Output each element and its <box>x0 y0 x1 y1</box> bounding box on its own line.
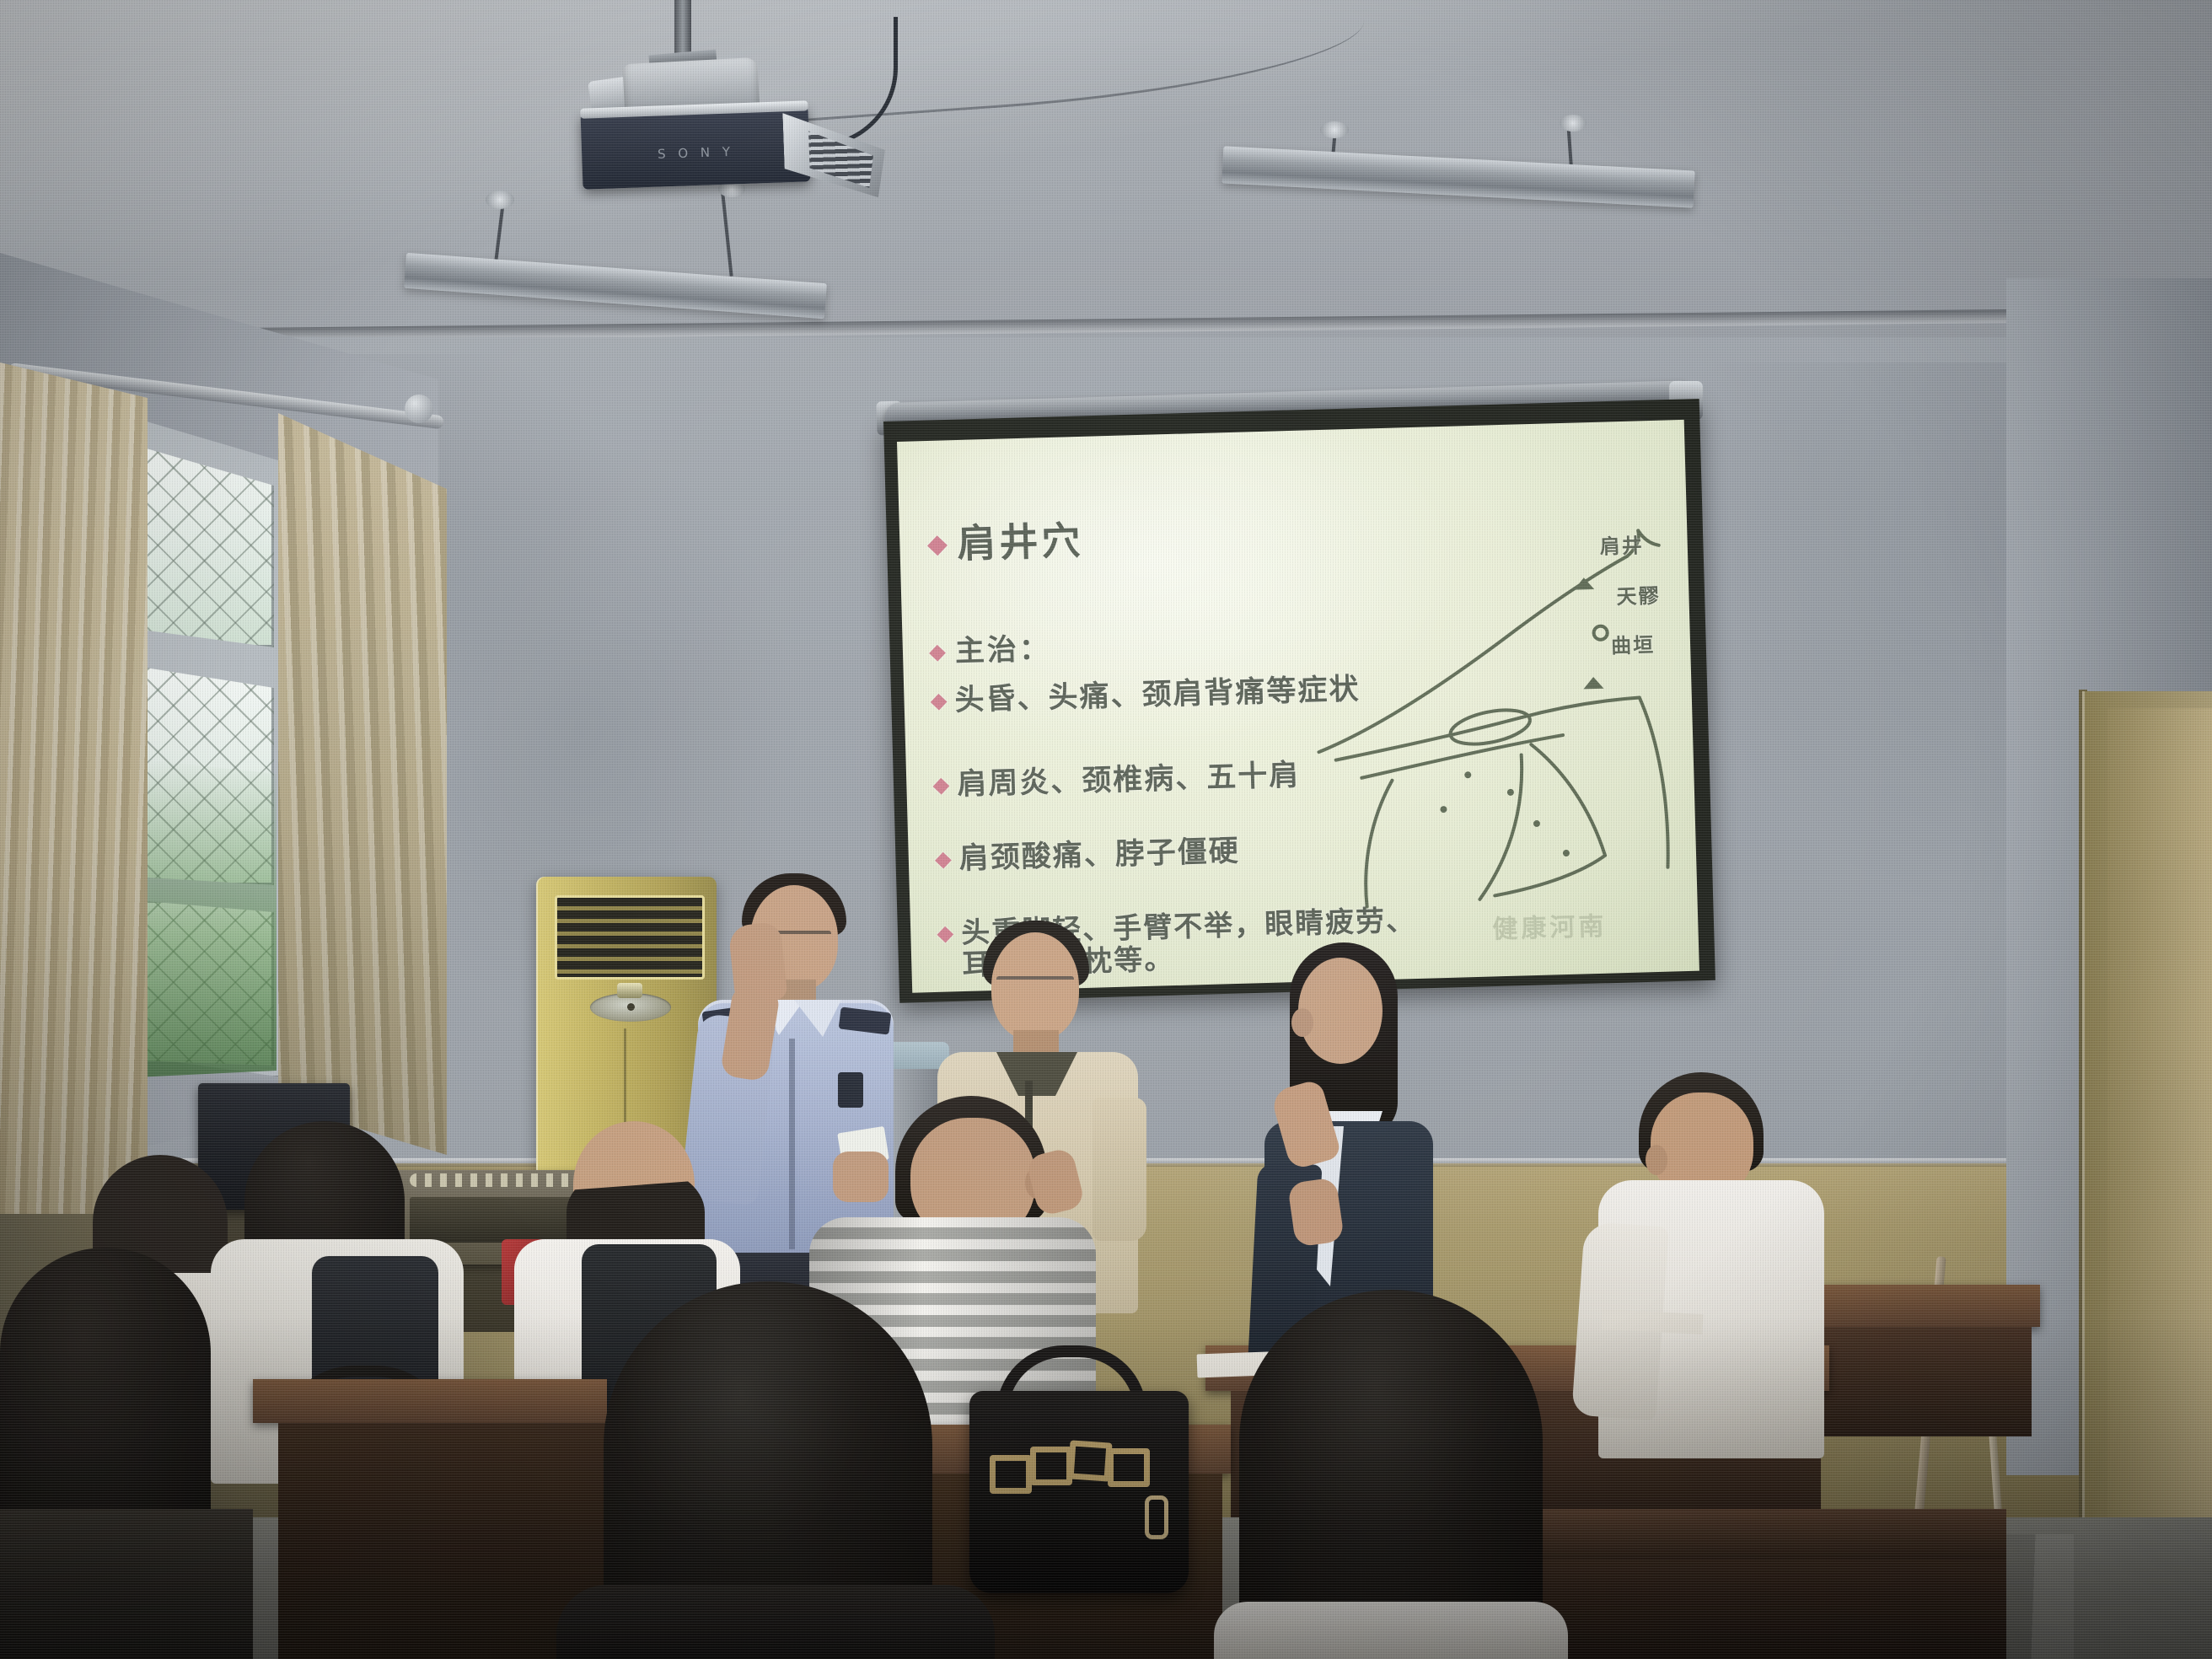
acupoint-label-quyuan: 曲垣 <box>1611 628 1656 658</box>
polo-man-glasses <box>996 976 1074 993</box>
air-conditioner-led-icon <box>627 1003 635 1011</box>
bench-desk <box>253 1379 607 1423</box>
amplifier-knobs[interactable] <box>410 1173 578 1187</box>
presenter-badge <box>838 1072 863 1108</box>
foreground-right-hair <box>1239 1290 1543 1644</box>
handbag-zip-pull-icon <box>1145 1495 1168 1539</box>
projection-screen-surface: 肩井穴 主治： 头昏、头痛、颈肩背痛等症状 肩周炎、颈椎病、五十肩 肩颈酸痛、脖… <box>897 420 1699 993</box>
acupoint-label-jianjing: 肩井 <box>1599 529 1644 559</box>
lamp-ceiling-hook <box>1320 121 1349 138</box>
amplifier-face-panel <box>410 1197 578 1243</box>
curtain-left <box>0 362 148 1214</box>
curtain-right <box>278 413 447 1155</box>
lamp-ceiling-hook <box>486 191 514 209</box>
left-edge-torso <box>0 1509 253 1659</box>
slide-subheading: 主治： <box>954 633 1051 668</box>
window-foliage <box>135 759 276 1079</box>
bullet-diamond-icon <box>927 535 948 556</box>
bullet-diamond-icon <box>933 778 950 795</box>
curtain-rod-finial <box>405 395 433 423</box>
polo-man-sleeve <box>1093 1098 1146 1241</box>
slide-watermark: 健康河南 <box>1492 913 1608 944</box>
wooden-door[interactable] <box>2107 708 2212 1526</box>
bullet-diamond-icon <box>931 694 948 711</box>
air-conditioner-louvers <box>555 895 705 980</box>
navy-woman-hand <box>1287 1177 1345 1247</box>
handbag-buckle-icon <box>1108 1448 1150 1487</box>
left-edge-hair <box>0 1248 211 1543</box>
photo-scene: S O N Y 肩井穴 主治： 头昏、头痛、颈肩背痛等症状 肩周炎、颈椎病、五十… <box>0 0 2212 1659</box>
slide-bullet-3: 肩颈酸痛、脖子僵硬 <box>958 835 1240 876</box>
navy-woman-head <box>1298 958 1382 1064</box>
bullet-diamond-icon <box>929 645 946 662</box>
acupoint-label-tianliao: 天髎 <box>1616 579 1661 609</box>
bullet-diamond-icon <box>935 852 952 869</box>
presenter-hand-raised <box>727 921 787 1004</box>
handbag-buckle-icon <box>990 1455 1032 1494</box>
lamp-ceiling-hook <box>1560 115 1587 132</box>
slide-title: 肩井穴 <box>957 519 1084 566</box>
foreground-left-shoulders <box>556 1585 995 1659</box>
air-conditioner-knob[interactable] <box>617 983 642 998</box>
handbag-buckle-icon <box>1030 1447 1072 1485</box>
presenter-hand-lower <box>833 1152 889 1202</box>
slide-bullet-2: 肩周炎、颈椎病、五十肩 <box>957 760 1301 803</box>
navy-woman-ear <box>1291 1008 1313 1037</box>
bullet-diamond-icon <box>937 926 953 943</box>
foreground-right-top <box>1214 1602 1568 1659</box>
projector-brand-mark: S O N Y <box>658 143 751 162</box>
white-shirt-man-ear <box>1646 1145 1667 1175</box>
handbag-buckle-icon <box>1067 1440 1112 1481</box>
presenter-shirt-placket <box>789 1039 795 1249</box>
